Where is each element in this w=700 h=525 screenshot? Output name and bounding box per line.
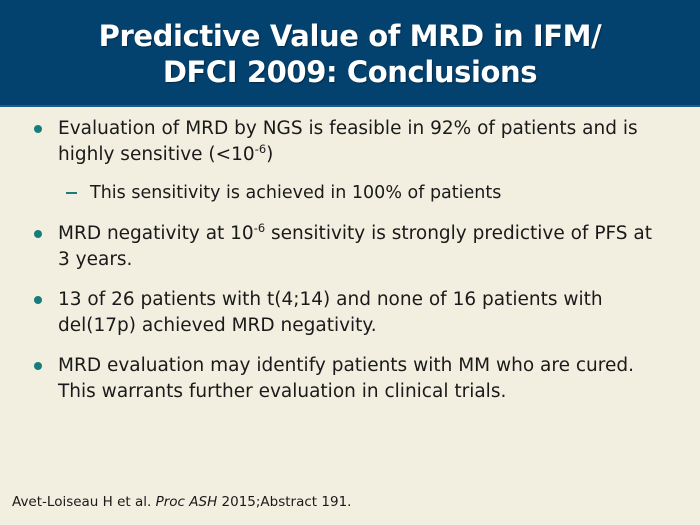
bullet-text-tail: ) [266, 144, 273, 165]
bullet-item: Evaluation of MRD by NGS is feasible in … [0, 116, 700, 168]
disc-bullet-icon [34, 221, 58, 247]
bullet-superscript: -6 [254, 221, 265, 235]
slide-title-banner: Predictive Value of MRD in IFM/ DFCI 200… [0, 0, 700, 107]
sub-bullet-item: This sensitivity is achieved in 100% of … [0, 180, 700, 206]
presentation-slide: Predictive Value of MRD in IFM/ DFCI 200… [0, 0, 700, 525]
disc-bullet-icon [34, 353, 58, 379]
bullet-item: 13 of 26 patients with t(4;14) and none … [0, 287, 700, 339]
citation-details: 2015;Abstract 191. [217, 494, 351, 510]
sub-bullet-text-main: This sensitivity is achieved in 100% of … [90, 183, 501, 203]
disc-bullet-icon [34, 116, 58, 142]
bullet-text-main: 13 of 26 patients with t(4;14) and none … [58, 289, 603, 336]
bullet-text-main: MRD negativity at 10 [58, 223, 254, 244]
bullet-text: MRD negativity at 10-6 sensitivity is st… [58, 221, 656, 273]
bullet-text-main: MRD evaluation may identify patients wit… [58, 355, 634, 402]
slide-body: Evaluation of MRD by NGS is feasible in … [0, 116, 700, 419]
bullet-text: Evaluation of MRD by NGS is feasible in … [58, 116, 656, 168]
bullet-text-main: Evaluation of MRD by NGS is feasible in … [58, 118, 638, 165]
sub-bullet-text: This sensitivity is achieved in 100% of … [90, 180, 656, 206]
disc-bullet-icon [34, 287, 58, 313]
bullet-superscript: -6 [255, 142, 266, 156]
dash-bullet-icon [66, 180, 90, 206]
citation: Avet-Loiseau H et al. Proc ASH 2015;Abst… [12, 493, 351, 511]
citation-source: Proc ASH [156, 494, 218, 510]
bullet-text: MRD evaluation may identify patients wit… [58, 353, 656, 405]
citation-authors: Avet-Loiseau H et al. [12, 494, 156, 510]
bullet-text: 13 of 26 patients with t(4;14) and none … [58, 287, 656, 339]
bullet-item: MRD evaluation may identify patients wit… [0, 353, 700, 405]
title-banner-underline [0, 105, 700, 107]
slide-title: Predictive Value of MRD in IFM/ DFCI 200… [30, 18, 670, 90]
bullet-item: MRD negativity at 10-6 sensitivity is st… [0, 221, 700, 273]
